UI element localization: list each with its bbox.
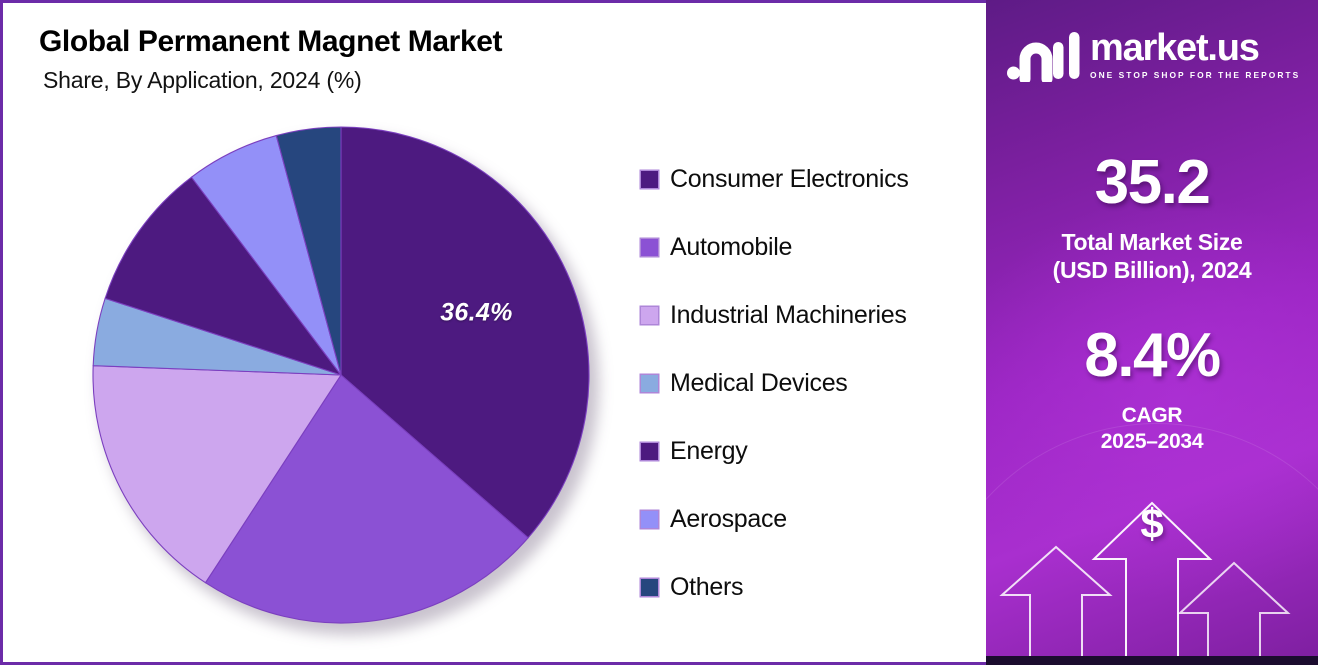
legend-item-label: Industrial Machineries (670, 301, 907, 330)
pie-slice-label: 36.4% (440, 299, 512, 328)
stat-caption-line-1: Total Market Size (986, 228, 1318, 256)
legend-swatch-icon (641, 239, 658, 256)
growth-arrows-icon (986, 485, 1318, 665)
stat-cagr-caption: CAGR 2025–2034 (986, 403, 1318, 454)
pie-chart: 36.4% (91, 125, 603, 637)
legend-item-label: Energy (670, 437, 747, 466)
legend-item-label: Aerospace (670, 505, 787, 534)
legend-item[interactable]: Aerospace (641, 485, 909, 553)
infographic-root: Global Permanent Magnet Market Share, By… (0, 0, 1318, 665)
legend-item[interactable]: Others (641, 553, 909, 621)
legend-swatch-icon (641, 307, 658, 324)
stat-cagr-value: 8.4% (986, 325, 1318, 387)
chart-legend: Consumer ElectronicsAutomobileIndustrial… (641, 145, 909, 621)
legend-swatch-icon (641, 171, 658, 188)
dollar-sign-icon: $ (986, 503, 1318, 545)
stat-market-size-value: 35.2 (986, 152, 1318, 214)
stat-market-size: 35.2 Total Market Size (USD Billion), 20… (986, 152, 1318, 284)
legend-swatch-icon (641, 443, 658, 460)
chart-heading-group: Global Permanent Magnet Market Share, By… (39, 25, 502, 94)
stat-caption-line-2: (USD Billion), 2024 (986, 256, 1318, 284)
page-title: Global Permanent Magnet Market (39, 25, 502, 59)
brand-panel: market.us ONE STOP SHOP FOR THE REPORTS … (986, 0, 1318, 665)
stat-caption-line-1: CAGR (986, 403, 1318, 429)
chart-panel: Global Permanent Magnet Market Share, By… (0, 0, 986, 665)
legend-item[interactable]: Industrial Machineries (641, 281, 909, 349)
legend-item[interactable]: Consumer Electronics (641, 145, 909, 213)
legend-item-label: Others (670, 573, 743, 602)
pie-chart-svg (91, 125, 603, 637)
legend-item[interactable]: Automobile (641, 213, 909, 281)
logo-mark-icon (1006, 28, 1080, 82)
legend-item-label: Consumer Electronics (670, 165, 909, 194)
market-us-logo[interactable]: market.us ONE STOP SHOP FOR THE REPORTS (1006, 28, 1300, 82)
legend-item-label: Medical Devices (670, 369, 848, 398)
stat-market-size-caption: Total Market Size (USD Billion), 2024 (986, 228, 1318, 284)
legend-item[interactable]: Medical Devices (641, 349, 909, 417)
legend-swatch-icon (641, 375, 658, 392)
legend-item-label: Automobile (670, 233, 792, 262)
stat-caption-line-2: 2025–2034 (986, 429, 1318, 455)
logo-wordmark: market.us (1090, 30, 1300, 66)
legend-swatch-icon (641, 511, 658, 528)
chart-subtitle: Share, By Application, 2024 (%) (43, 67, 502, 94)
legend-item[interactable]: Energy (641, 417, 909, 485)
logo-tagline: ONE STOP SHOP FOR THE REPORTS (1090, 70, 1300, 80)
logo-text-group: market.us ONE STOP SHOP FOR THE REPORTS (1090, 30, 1300, 80)
stat-cagr: 8.4% CAGR 2025–2034 (986, 325, 1318, 454)
legend-swatch-icon (641, 579, 658, 596)
